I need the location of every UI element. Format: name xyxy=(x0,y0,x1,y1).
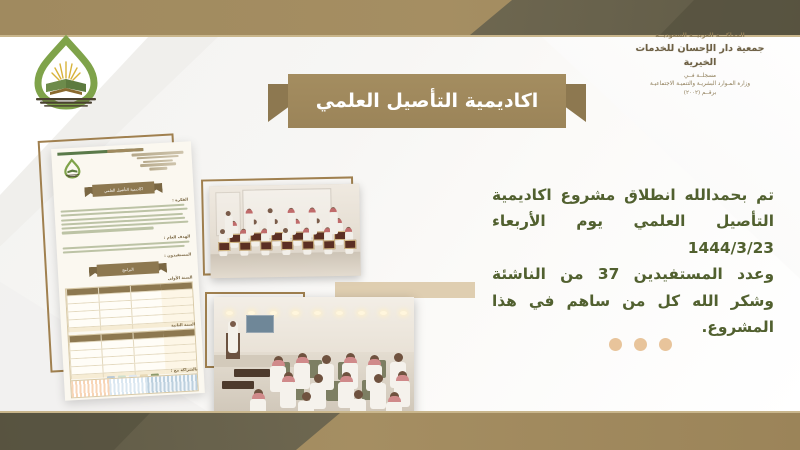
registration-registered-in: مسجلــة فــي xyxy=(622,72,778,80)
decorative-dot xyxy=(634,338,647,351)
organization-logo xyxy=(20,34,112,120)
flyer-section-goal-heading: الهدف العام : xyxy=(164,233,191,239)
flyer-section-idea-heading: الفكرة : xyxy=(172,197,188,203)
ceiling-lights xyxy=(214,311,414,317)
registration-info: المملكـــة العربيــة السعوديــة جمعية دا… xyxy=(622,32,778,97)
registration-ministry: وزارة المـوارد البشريـة والتنميـة الاجتم… xyxy=(622,80,778,88)
decorative-dot xyxy=(609,338,622,351)
paragraph-line-3: وعدد المستفيدين 37 من الناشئة xyxy=(492,261,774,287)
hall-photo xyxy=(214,297,414,417)
flyer-title: اكاديمية التأصيل العلمي xyxy=(84,181,163,197)
ribbon-body: اكاديمية التأصيل العلمي xyxy=(288,74,566,128)
flyer-programs-title: البرامج xyxy=(89,261,168,277)
flyer-section-idea-body xyxy=(61,204,190,237)
registration-country: المملكـــة العربيــة السعوديــة xyxy=(622,32,778,41)
flyer-footer-segment xyxy=(147,374,197,393)
flyer-footer-segment xyxy=(109,377,148,395)
projector-screen xyxy=(246,315,274,333)
decorative-dot xyxy=(659,338,672,351)
paragraph-line-5: المشروع. xyxy=(492,314,774,340)
decorative-top-bar xyxy=(0,0,800,35)
project-flyer: اكاديمية التأصيل العلمي الفكرة : الهدف ا… xyxy=(44,131,208,399)
paragraph-line-1: تم بحمدالله انطلاق مشروع اكاديمية xyxy=(492,182,774,208)
flyer-year1-table xyxy=(65,281,195,336)
hall-photo-room xyxy=(214,297,414,417)
title-ribbon: اكاديمية التأصيل العلمي xyxy=(268,74,586,128)
page-title: اكاديمية التأصيل العلمي xyxy=(316,90,539,112)
flyer-footer-segment xyxy=(71,379,110,397)
decorative-bottom-bar xyxy=(0,413,800,450)
flyer-title-ribbon: اكاديمية التأصيل العلمي xyxy=(84,181,163,197)
paragraph-line-2: التأصيل العلمي يوم الأربعاء 1444/3/23 xyxy=(492,208,774,261)
group-photo xyxy=(209,184,361,279)
group-of-students xyxy=(210,211,361,258)
flyer-top-band-gold xyxy=(107,148,143,153)
group-photo-room xyxy=(209,184,361,279)
flyer-section-beneficiaries-heading: المستفيدون : xyxy=(164,251,191,257)
hall-photo-accent-block xyxy=(335,282,475,298)
decorative-dots xyxy=(609,338,672,351)
seated-audience xyxy=(214,343,414,417)
announcement-paragraph: تم بحمدالله انطلاق مشروع اكاديمية التأصي… xyxy=(492,182,774,341)
poster-canvas: المملكـــة العربيــة السعوديــة جمعية دا… xyxy=(0,0,800,450)
paragraph-line-4: وشكر الله كل من ساهم في هذا xyxy=(492,288,774,314)
flyer-page: اكاديمية التأصيل العلمي الفكرة : الهدف ا… xyxy=(51,141,205,400)
registration-org-name: جمعية دار الإحسان للخدمات الخيرية xyxy=(622,42,778,70)
registration-number: برقــم (٢٠٠٢) xyxy=(622,89,778,97)
flyer-logo-icon xyxy=(61,157,84,180)
flyer-header-text xyxy=(131,151,184,172)
flyer-year1-heading: السنة الأولى xyxy=(168,274,193,280)
flyer-programs-ribbon: البرامج xyxy=(89,261,168,277)
